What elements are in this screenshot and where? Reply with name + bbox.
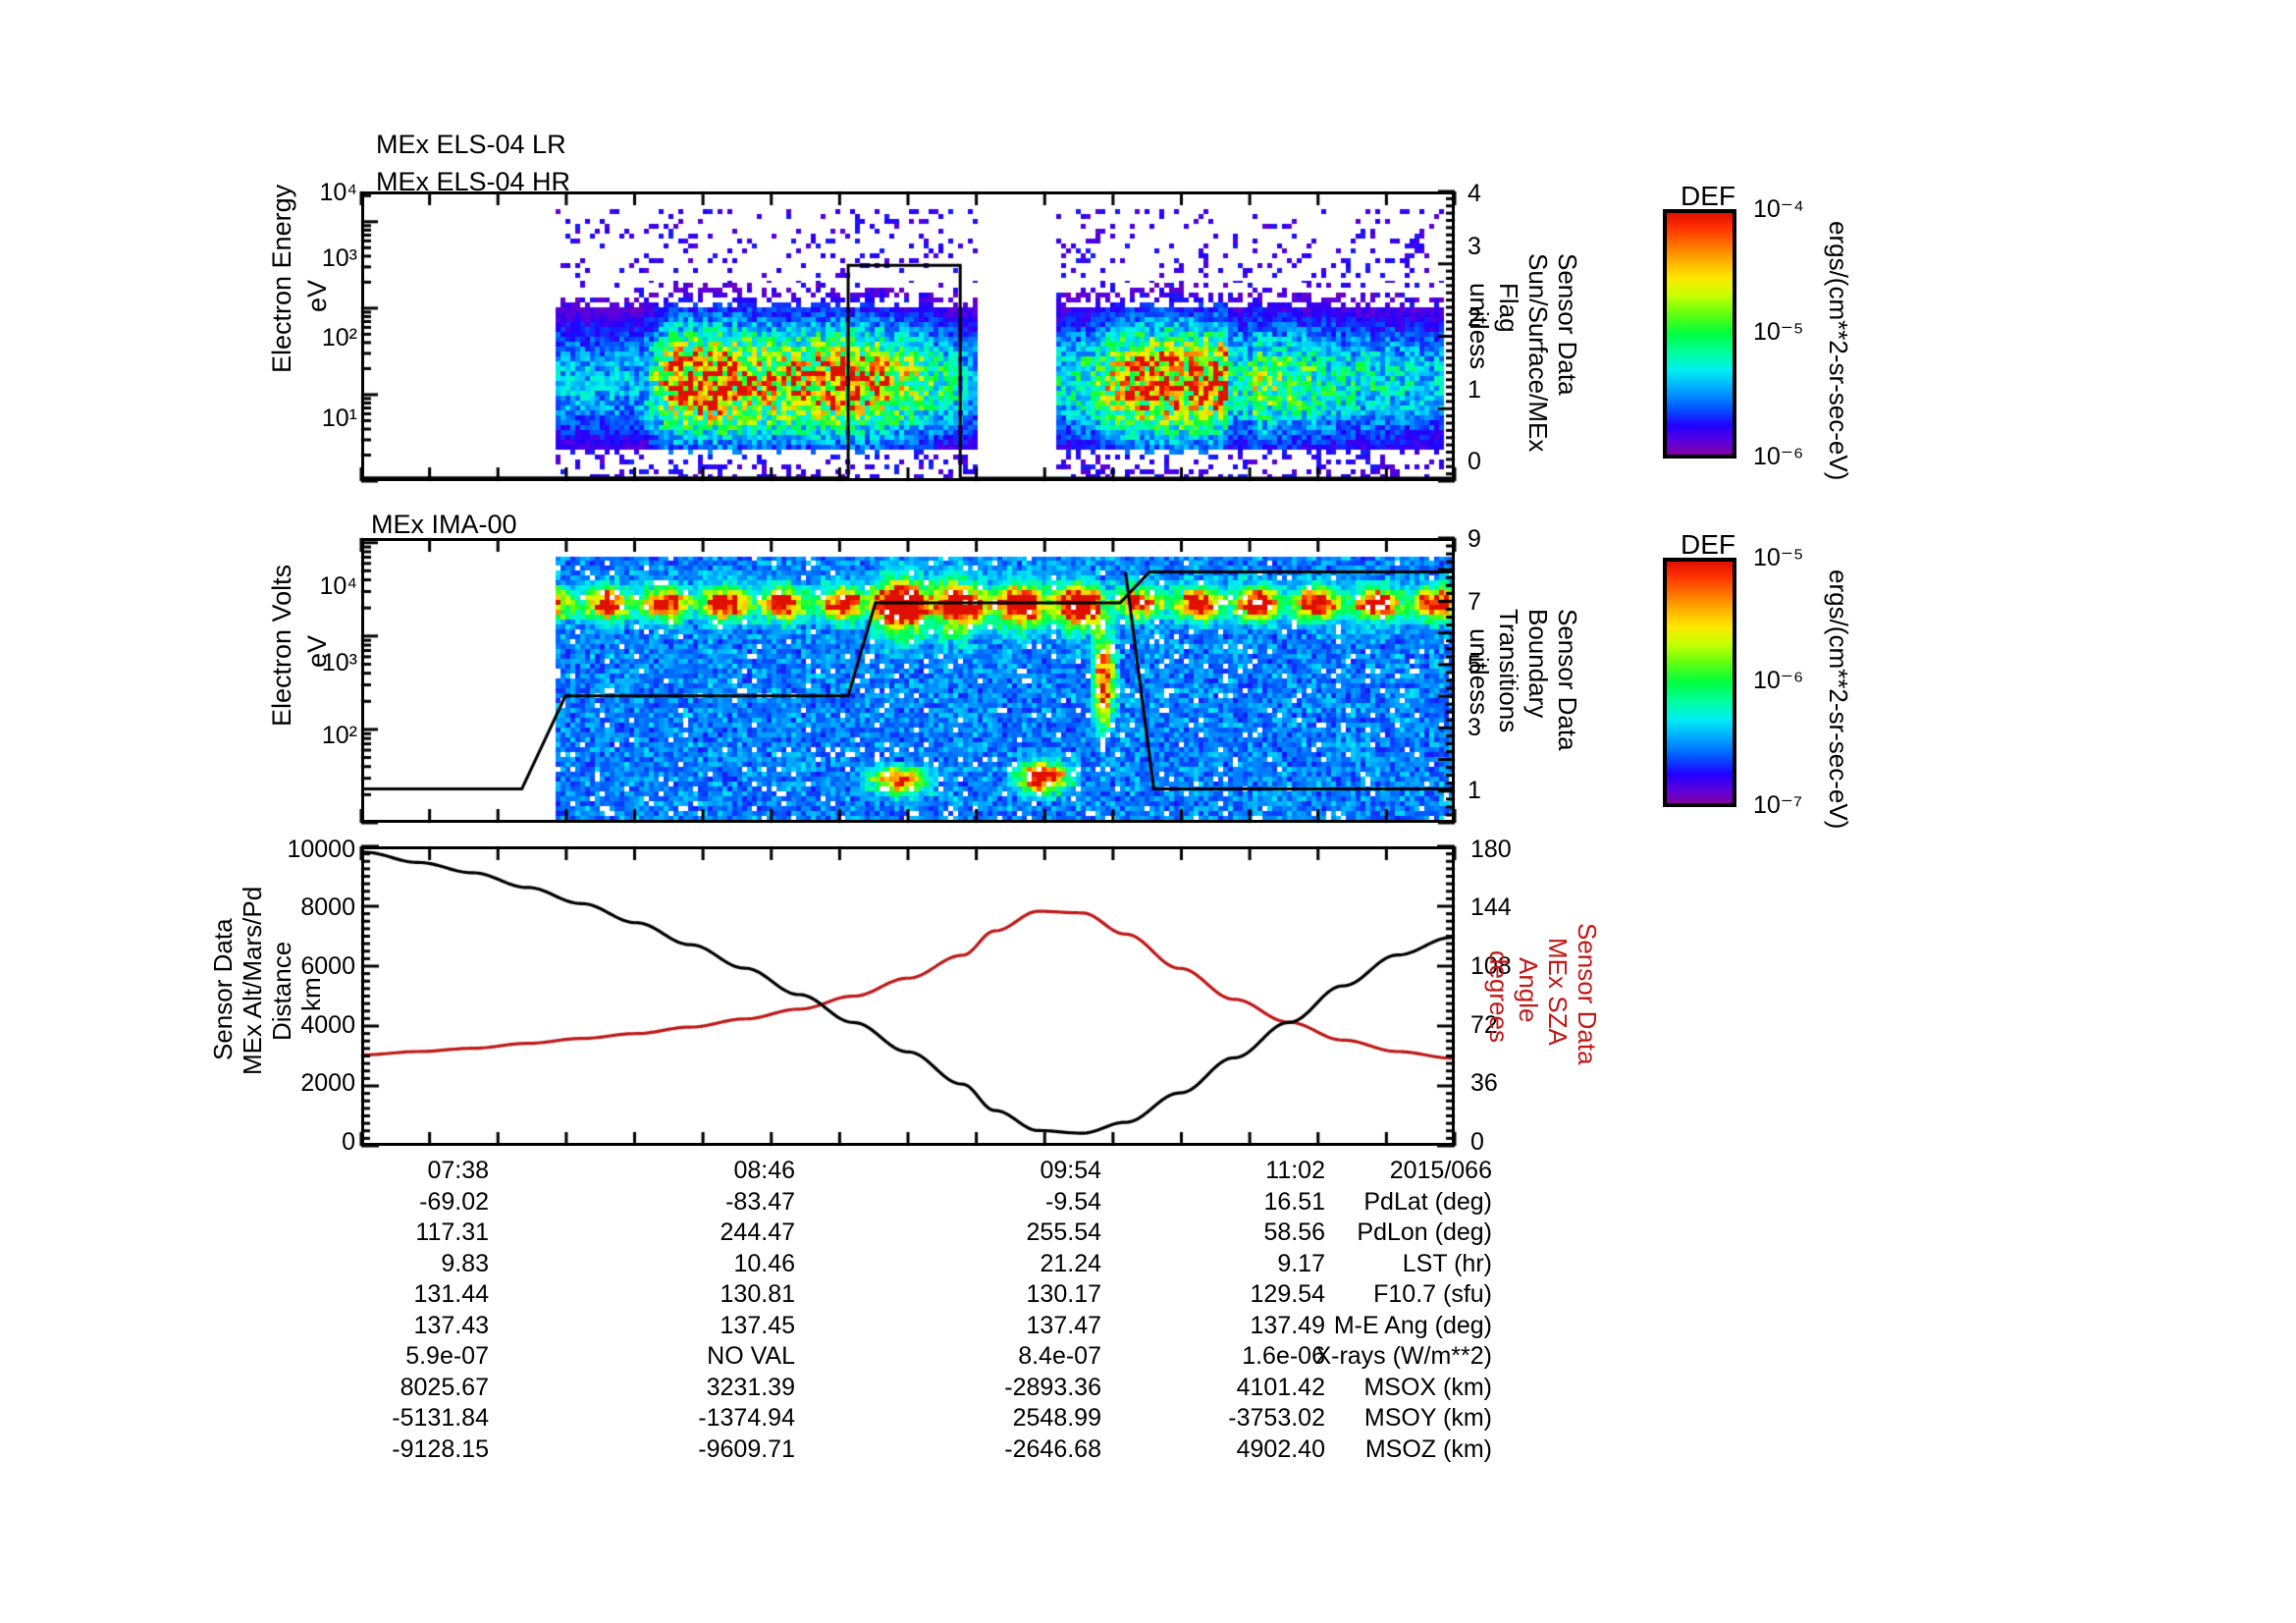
els-flag-overlay (364, 194, 1452, 478)
table-row: MSOZ (km)-9128.15-9609.71-2646.684902.40 (0, 1435, 1492, 1467)
table-cell: 5.9e-07 (332, 1342, 489, 1371)
els-yunits: eV (302, 280, 333, 312)
parameter-table: 2015/06607:3808:4609:5411:02PdLat (deg)-… (0, 1157, 1492, 1466)
alt-right-label-2: MEx SZA (1542, 938, 1573, 1046)
table-cell: -9609.71 (638, 1435, 795, 1464)
table-cell: 2548.99 (944, 1404, 1101, 1433)
alt-ltick-1: 8000 (233, 893, 355, 922)
ima-ytick-0: 10⁴ (316, 572, 357, 601)
els-ytick-3: 10¹ (316, 405, 357, 433)
table-cell: 8.4e-07 (944, 1342, 1101, 1371)
ima-right-label-4: unitless (1464, 628, 1494, 715)
table-cell: -83.47 (638, 1188, 795, 1217)
colorbar-2-title: DEF (1681, 529, 1735, 561)
ima-ytick-1: 10³ (316, 649, 357, 677)
alt-right-label-1: Sensor Data (1572, 923, 1602, 1065)
table-cell: 16.51 (1168, 1188, 1325, 1217)
table-cell: 21.24 (944, 1250, 1101, 1278)
ima-right-label-3: Transitions (1493, 609, 1523, 732)
els-ytick-2: 10² (316, 324, 357, 352)
ima-ylabel: Electron Volts (267, 565, 297, 727)
table-cell: -69.02 (332, 1188, 489, 1217)
alt-right-label-3: Angle (1513, 957, 1543, 1023)
table-cell: 3231.39 (638, 1374, 795, 1402)
table-cell: -5131.84 (332, 1404, 489, 1433)
alt-ltick-5: 0 (233, 1128, 355, 1157)
els-title-lr: MEx ELS-04 LR (376, 130, 566, 160)
table-row: F10.7 (sfu)131.44130.81130.17129.54 (0, 1280, 1492, 1312)
alt-rtick-4: 36 (1470, 1069, 1498, 1098)
table-row: PdLon (deg)117.31244.47255.5458.56 (0, 1218, 1492, 1250)
colorbar-1-units: ergs/(cm**2-sr-sec-eV) (1823, 221, 1853, 480)
alt-sza-lineplot (364, 849, 1452, 1143)
els-rtick-0: 4 (1468, 180, 1481, 208)
els-ytick-1: 10³ (316, 244, 357, 273)
colorbar-1-tick-1: 10⁻⁵ (1753, 317, 1803, 347)
table-cell: 130.17 (944, 1280, 1101, 1309)
colorbar-2-tick-1: 10⁻⁶ (1753, 666, 1803, 695)
table-cell: -2893.36 (944, 1374, 1101, 1402)
els-ytick-0: 10⁴ (316, 179, 357, 207)
colorbar-2-gradient (1663, 558, 1736, 807)
table-cell: -1374.94 (638, 1404, 795, 1433)
table-row: M-E Ang (deg)137.43137.45137.47137.49 (0, 1312, 1492, 1343)
table-cell: 130.81 (638, 1280, 795, 1309)
els-right-label-4: unitless (1464, 283, 1494, 369)
els-rtick-4: 0 (1468, 448, 1481, 476)
table-cell: 07:38 (332, 1157, 489, 1185)
table-cell: 137.49 (1168, 1312, 1325, 1340)
table-cell: 137.43 (332, 1312, 489, 1340)
ima-rtick-0: 9 (1468, 525, 1481, 554)
colorbar-1-title: DEF (1681, 181, 1735, 212)
table-cell: 137.45 (638, 1312, 795, 1340)
alt-rtick-0: 180 (1470, 836, 1512, 864)
table-cell: 58.56 (1168, 1218, 1325, 1247)
table-cell: 10.46 (638, 1250, 795, 1278)
table-cell: -3753.02 (1168, 1404, 1325, 1433)
table-cell: 4101.42 (1168, 1374, 1325, 1402)
table-cell: 11:02 (1168, 1157, 1325, 1185)
colorbar-1-tick-2: 10⁻⁶ (1753, 442, 1803, 471)
table-row: MSOY (km)-5131.84-1374.942548.99-3753.02 (0, 1404, 1492, 1435)
alt-ltick-2: 6000 (233, 952, 355, 981)
els-right-label-2: Sun/Surface/MEx (1522, 253, 1553, 452)
table-cell: 1.6e-06 (1168, 1342, 1325, 1371)
ima-rtick-1: 7 (1468, 588, 1481, 617)
table-cell: -9128.15 (332, 1435, 489, 1464)
table-row: X-rays (W/m**2)5.9e-07NO VAL8.4e-071.6e-… (0, 1342, 1492, 1374)
table-cell: 08:46 (638, 1157, 795, 1185)
table-row: LST (hr)9.8310.4621.249.17 (0, 1250, 1492, 1281)
table-cell: 117.31 (332, 1218, 489, 1247)
alt-ltick-3: 4000 (233, 1011, 355, 1040)
colorbar-1-tick-0: 10⁻⁴ (1753, 194, 1804, 224)
plot-canvas: MEx ELS-04 LR MEx ELS-04 HR Electron Ene… (0, 0, 2296, 1623)
colorbar-2-tick-2: 10⁻⁷ (1753, 790, 1802, 820)
table-cell: 244.47 (638, 1218, 795, 1247)
ima-boundary-overlay (364, 541, 1452, 820)
alt-ltick-4: 2000 (233, 1069, 355, 1098)
ima-rtick-3: 3 (1468, 714, 1481, 742)
colorbar-1-gradient (1663, 209, 1736, 459)
table-cell: 137.47 (944, 1312, 1101, 1340)
els-rtick-3: 1 (1468, 376, 1481, 405)
els-right-label-1: Sensor Data (1552, 253, 1582, 396)
ima-right-label-2: Boundary (1522, 609, 1553, 718)
table-cell: 4902.40 (1168, 1435, 1325, 1464)
table-cell: 9.83 (332, 1250, 489, 1278)
els-right-label-3: Flag (1493, 283, 1523, 333)
table-cell: -9.54 (944, 1188, 1101, 1217)
colorbar-2-tick-0: 10⁻⁵ (1753, 543, 1803, 572)
ima-right-label-1: Sensor Data (1552, 609, 1582, 751)
alt-rtick-1: 144 (1470, 893, 1512, 922)
table-cell: 255.54 (944, 1218, 1101, 1247)
table-cell: 131.44 (332, 1280, 489, 1309)
ima-title: MEx IMA-00 (371, 510, 517, 540)
colorbar-2-units: ergs/(cm**2-sr-sec-eV) (1823, 569, 1853, 829)
table-cell: 129.54 (1168, 1280, 1325, 1309)
ima-ytick-2: 10² (316, 722, 357, 750)
table-row: 2015/06607:3808:4609:5411:02 (0, 1157, 1492, 1188)
table-cell: 8025.67 (332, 1374, 489, 1402)
els-ylabel: Electron Energy (267, 185, 297, 373)
table-row: PdLat (deg)-69.02-83.47-9.5416.51 (0, 1188, 1492, 1219)
table-cell: 9.17 (1168, 1250, 1325, 1278)
table-cell: 09:54 (944, 1157, 1101, 1185)
ima-rtick-4: 1 (1468, 777, 1481, 805)
alt-ltick-0: 10000 (233, 836, 355, 864)
table-cell: NO VAL (638, 1342, 795, 1371)
alt-left-label-4: km (296, 977, 327, 1011)
alt-right-label-4: degrees (1483, 950, 1514, 1043)
alt-rtick-5: 0 (1470, 1128, 1484, 1157)
els-rtick-1: 3 (1468, 233, 1481, 261)
table-row: MSOX (km)8025.673231.39-2893.364101.42 (0, 1374, 1492, 1405)
table-cell: -2646.68 (944, 1435, 1101, 1464)
